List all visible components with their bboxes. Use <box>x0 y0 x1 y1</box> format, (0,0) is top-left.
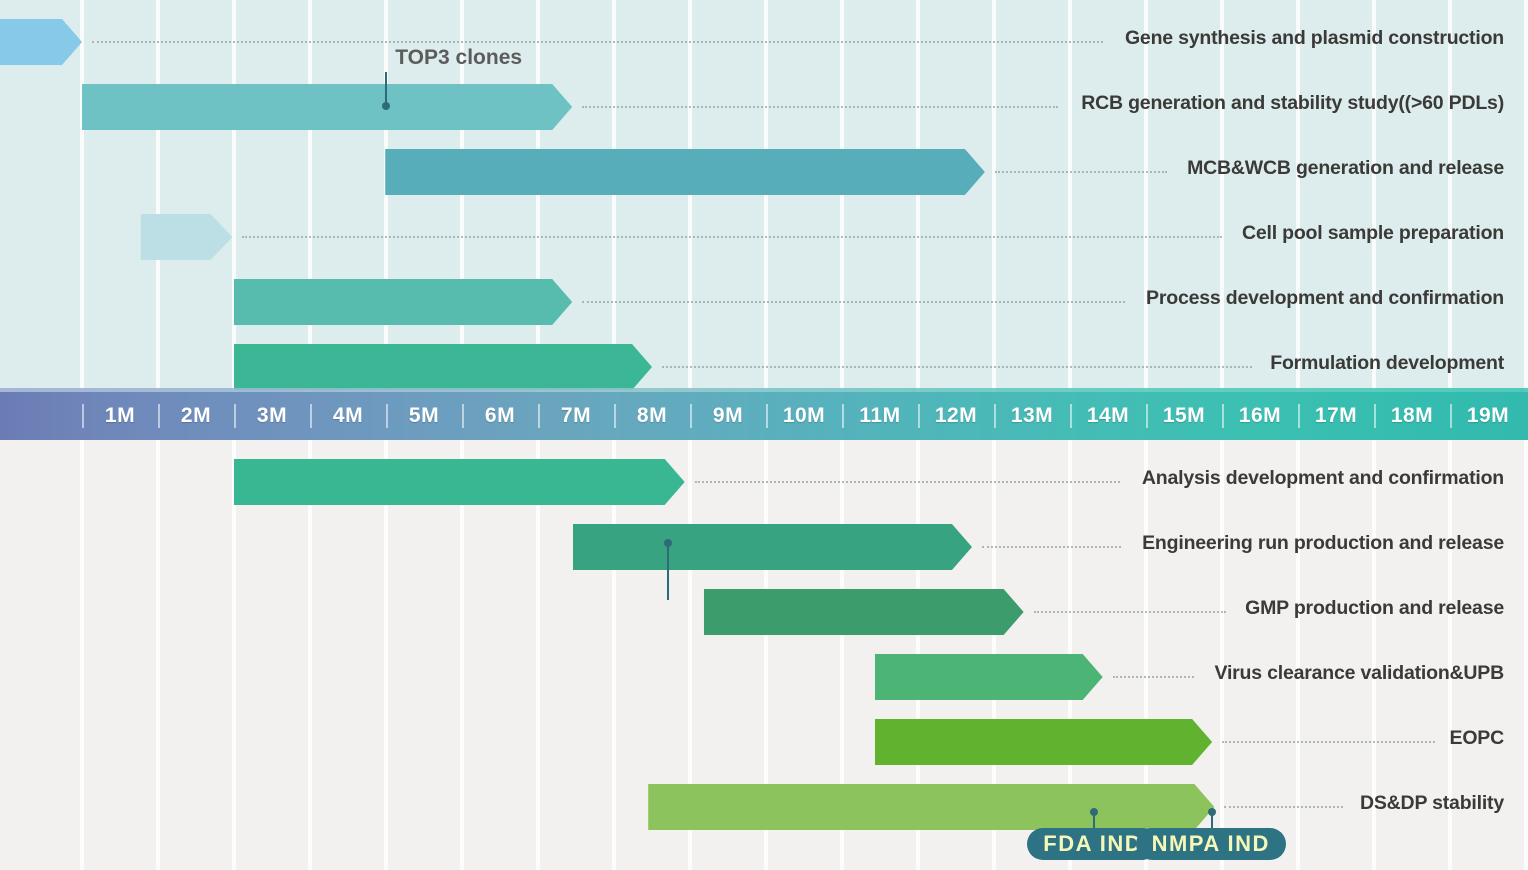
timeline-axis[interactable]: 1M2M3M4M5M6M7M8M9M10M11M12M13M14M15M16M1… <box>0 392 1528 440</box>
axis-tick-2m[interactable]: 2M <box>158 392 234 440</box>
task-bar[interactable] <box>82 84 572 130</box>
axis-tick-1m[interactable]: 1M <box>82 392 158 440</box>
task-bar[interactable] <box>234 344 652 390</box>
milestone-badge-nmpa-ind[interactable]: NMPA IND <box>1136 828 1286 860</box>
leader-dots <box>582 106 1058 108</box>
task-bar[interactable] <box>704 589 1024 635</box>
task-label: Process development and confirmation <box>1146 287 1504 310</box>
task-label: RCB generation and stability study((>60 … <box>1081 92 1504 115</box>
task-label: Gene synthesis and plasmid construction <box>1125 27 1504 50</box>
task-label: Cell pool sample preparation <box>1242 222 1504 245</box>
task-row: DS&DP stability <box>0 775 1528 840</box>
leader-dots <box>695 481 1120 483</box>
milestone-dot <box>1208 808 1216 816</box>
callout-line <box>667 543 669 600</box>
task-bar[interactable] <box>0 19 82 65</box>
task-bar[interactable] <box>234 279 572 325</box>
task-row: Process development and confirmation <box>0 270 1528 335</box>
axis-tick-15m[interactable]: 15M <box>1146 392 1222 440</box>
axis-tick-3m[interactable]: 3M <box>234 392 310 440</box>
task-label: EOPC <box>1450 727 1504 750</box>
leader-dots <box>582 301 1125 303</box>
axis-tick-11m[interactable]: 11M <box>842 392 918 440</box>
gantt-chart: Gene synthesis and plasmid constructionR… <box>0 0 1528 870</box>
task-row: MCB&WCB generation and release <box>0 140 1528 205</box>
task-bar[interactable] <box>875 719 1212 765</box>
axis-tick-10m[interactable]: 10M <box>766 392 842 440</box>
task-row: Analysis development and confirmation <box>0 450 1528 515</box>
leader-dots <box>662 366 1252 368</box>
task-bar[interactable] <box>141 214 233 260</box>
task-label: MCB&WCB generation and release <box>1187 157 1504 180</box>
leader-dots <box>1034 611 1226 613</box>
leader-dots <box>242 236 1222 238</box>
task-label: Formulation development <box>1270 352 1504 375</box>
axis-lead-spacer <box>0 392 82 440</box>
task-bar[interactable] <box>875 654 1103 700</box>
task-row: Cell pool sample preparation <box>0 205 1528 270</box>
axis-tick-18m[interactable]: 18M <box>1374 392 1450 440</box>
axis-tick-19m[interactable]: 19M <box>1450 392 1526 440</box>
leader-dots <box>1224 806 1343 808</box>
leader-dots <box>995 171 1167 173</box>
task-label: Analysis development and confirmation <box>1142 467 1504 490</box>
task-row: Gene synthesis and plasmid construction <box>0 10 1528 75</box>
axis-tick-4m[interactable]: 4M <box>310 392 386 440</box>
axis-tick-17m[interactable]: 17M <box>1298 392 1374 440</box>
task-row: RCB generation and stability study((>60 … <box>0 75 1528 140</box>
milestone-dot <box>1090 808 1098 816</box>
task-row: EOPC <box>0 710 1528 775</box>
task-row: Engineering run production and release <box>0 515 1528 580</box>
task-label: DS&DP stability <box>1360 792 1504 815</box>
axis-tick-12m[interactable]: 12M <box>918 392 994 440</box>
leader-dots <box>92 41 1103 43</box>
leader-dots <box>982 546 1121 548</box>
axis-tick-16m[interactable]: 16M <box>1222 392 1298 440</box>
axis-tick-9m[interactable]: 9M <box>690 392 766 440</box>
task-row: Virus clearance validation&UPB <box>0 645 1528 710</box>
axis-tick-5m[interactable]: 5M <box>386 392 462 440</box>
task-label: Virus clearance validation&UPB <box>1214 662 1504 685</box>
task-bar[interactable] <box>648 784 1214 830</box>
task-bar[interactable] <box>234 459 685 505</box>
task-bar[interactable] <box>385 149 985 195</box>
task-bar[interactable] <box>573 524 972 570</box>
axis-tick-14m[interactable]: 14M <box>1070 392 1146 440</box>
axis-tick-13m[interactable]: 13M <box>994 392 1070 440</box>
callout-text: TOP3 clones <box>395 46 522 70</box>
axis-tick-7m[interactable]: 7M <box>538 392 614 440</box>
leader-dots <box>1222 741 1435 743</box>
leader-dots <box>1113 676 1194 678</box>
axis-tick-8m[interactable]: 8M <box>614 392 690 440</box>
task-label: Engineering run production and release <box>1142 532 1504 555</box>
axis-tick-6m[interactable]: 6M <box>462 392 538 440</box>
task-row: GMP production and release <box>0 580 1528 645</box>
callout-line <box>385 72 387 106</box>
task-label: GMP production and release <box>1245 597 1504 620</box>
